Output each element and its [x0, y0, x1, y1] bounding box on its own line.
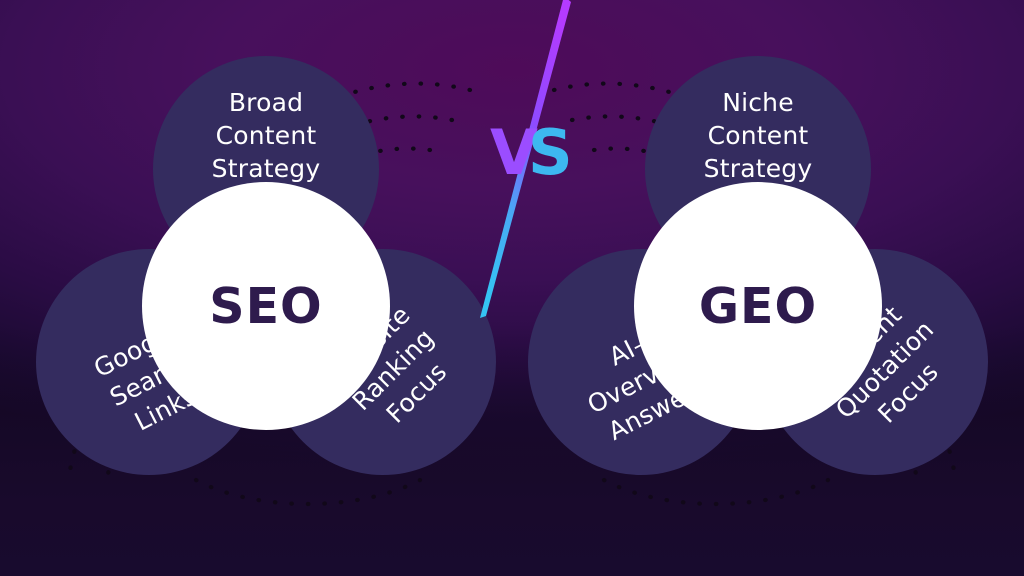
- vs-divider: V S: [440, 0, 600, 340]
- hub-seo[interactable]: SEO: [142, 182, 390, 430]
- hub-geo[interactable]: GEO: [634, 182, 882, 430]
- hub-seo-label: SEO: [209, 278, 322, 335]
- cluster-seo: Broad Content Strategy Google Search Lin…: [36, 56, 496, 496]
- vs-letter-s: S: [528, 116, 573, 189]
- hub-geo-label: GEO: [699, 278, 817, 335]
- diagram-canvas: Broad Content Strategy Google Search Lin…: [0, 0, 1024, 576]
- bubble-seo-top-label: Broad Content Strategy: [212, 86, 321, 185]
- bubble-geo-top-label: Niche Content Strategy: [704, 86, 813, 185]
- vs-text: V S: [440, 0, 600, 340]
